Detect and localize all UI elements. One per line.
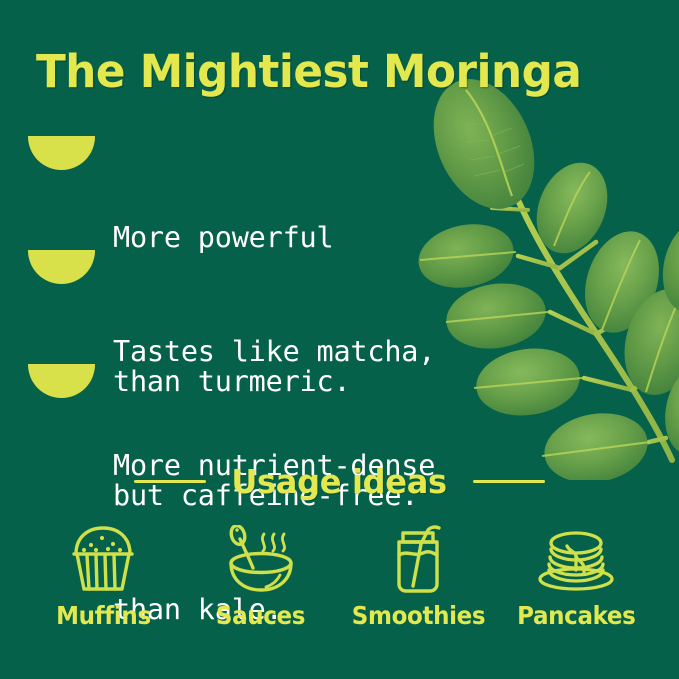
usage-ideas-title: Usage ideas xyxy=(232,462,447,501)
muffin-icon xyxy=(61,524,145,594)
usage-item-muffins: Muffins xyxy=(28,524,178,630)
half-circle-bullet-icon xyxy=(28,364,95,398)
usage-item-sauces: Sauces xyxy=(186,524,336,630)
divider-right xyxy=(473,480,545,483)
usage-item-label: Smoothies xyxy=(352,601,485,630)
half-circle-bullet-icon xyxy=(28,250,95,284)
usage-item-label: Sauces xyxy=(216,601,305,630)
pancake-stack-icon xyxy=(534,524,618,594)
usage-ideas-heading: Usage ideas xyxy=(0,462,679,501)
usage-item-label: Pancakes xyxy=(517,601,635,630)
usage-item-label: Muffins xyxy=(56,601,151,630)
smoothie-jar-icon xyxy=(376,524,460,594)
usage-ideas-list: Muffins xyxy=(28,524,651,630)
list-item: Tastes like matcha, but caffeine-free. xyxy=(0,232,500,346)
list-item: More nutrient-dense than kale. xyxy=(0,346,500,460)
soup-bowl-icon xyxy=(219,524,303,594)
usage-item-pancakes: Pancakes xyxy=(501,524,651,630)
divider-left xyxy=(134,480,206,483)
page-title: The Mightiest Moringa xyxy=(36,47,647,97)
product-infographic-poster: The Mightiest Moringa More powerful than… xyxy=(0,0,679,679)
usage-item-smoothies: Smoothies xyxy=(343,524,493,630)
list-item: More powerful than turmeric. xyxy=(0,118,500,232)
benefits-list: More powerful than turmeric. Tastes like… xyxy=(0,118,500,460)
half-circle-bullet-icon xyxy=(28,136,95,170)
